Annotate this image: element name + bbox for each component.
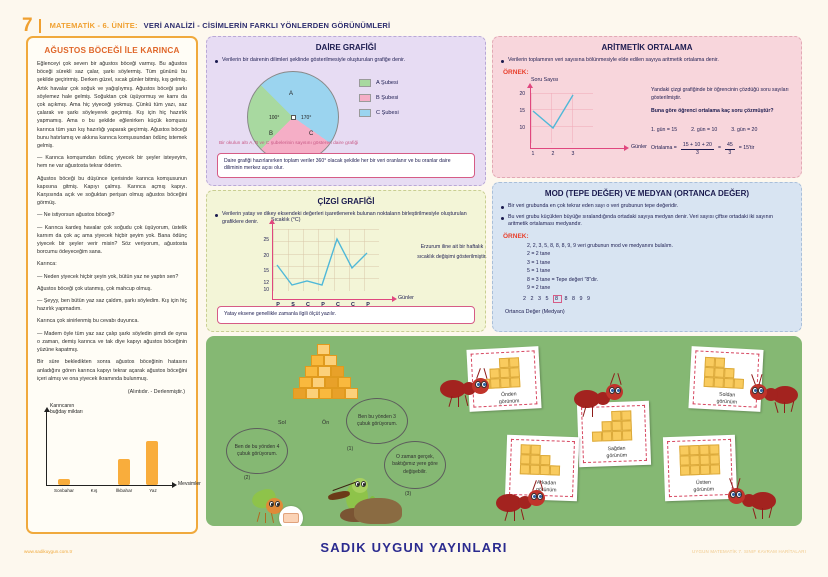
story-panel: AĞUSTOS BÖCEĞİ İLE KARINCA Eğlenceyi çok… [26, 36, 198, 534]
bullet-item: Bu veri grubu küçükten büyüğe sıralandığ… [493, 214, 801, 229]
mode-count: 8 = 3 tane = Tepe değeri "8"dir. [527, 276, 801, 284]
speech-bubble-number-2: (2) [244, 475, 250, 481]
bullet-dot-icon [215, 60, 218, 63]
x-tick-label: 1 [529, 151, 537, 157]
description-line: sıcaklık değişimi gösterilmiştir. [412, 253, 492, 263]
card-label: Sağdan görünüm [592, 445, 640, 460]
pie-slice-label-b: B [269, 131, 273, 137]
unit-number: 7 [22, 16, 33, 35]
section-title: ÇİZGİ GRAFİĞİ [207, 197, 485, 206]
median-highlight: 8 [553, 295, 562, 303]
story-paragraph: Ağustos böceği bu düşünce içerisinde kar… [37, 175, 187, 208]
legend-item: B Şubesi [359, 94, 399, 102]
bullet-item: Verilerin toplamının veri sayısına bölün… [493, 57, 801, 65]
equals-sign: = [718, 145, 721, 153]
story-paragraph: Eğlenceyi çok seven bir ağustos böceği v… [37, 60, 187, 150]
x-tick-label: 2 [549, 151, 557, 157]
bullet-dot-icon [501, 217, 504, 220]
line-chart-description: Erzurum iline ait bir haftalık sıcaklık … [412, 243, 492, 263]
pie-center-marker-icon [291, 115, 296, 120]
top-view-grid [679, 444, 722, 475]
category-label: Kış [78, 488, 110, 493]
line-note-box: Yatay eksene genellikle zamanla ilgili ö… [217, 306, 475, 324]
section-title: ARİTMETİK ORTALAMA [493, 43, 801, 52]
chart-x-axis-label: Mevsimler [178, 481, 201, 487]
legend-label: C Şubesi [376, 110, 399, 116]
illustration-panel: Sol Ön Ben bu yönden 3 çubuk görüyorum. … [206, 336, 802, 526]
bar-sonbahar [58, 479, 70, 485]
speech-text: Ben bu yönden 3 çubuk görüyorum. [352, 414, 402, 429]
bullet-item: Verilerin bir dairenin dilimleri şeklind… [207, 57, 485, 65]
story-body: Eğlenceyi çok seven bir ağustos böceği v… [28, 60, 196, 395]
median-label: Ortanca Değer (Medyan) [493, 309, 801, 315]
legend-swatch-icon [359, 109, 371, 117]
mode-count: 2 = 2 tane [527, 250, 801, 258]
arithmetic-mean-section: ARİTMETİK ORTALAMA Verilerin toplamının … [492, 36, 802, 178]
chart-y-axis-label: Sıcaklık (°C) [271, 217, 301, 223]
speech-bubble-number-3: (3) [405, 491, 411, 497]
mean-day-values: 1. gün = 15 2. gün = 10 3. gün = 20 [651, 127, 797, 135]
legend-label: B Şubesi [376, 95, 398, 101]
ant-character-back [496, 486, 552, 520]
bullet-text: Verilerin toplamının veri sayısına bölün… [508, 57, 719, 65]
legend-label: A Şubesi [376, 80, 398, 86]
mode-count: 5 = 1 tane [527, 267, 801, 275]
y-axis-arrow-icon [269, 219, 275, 224]
bullet-item: Bir veri grubunda en çok tekrar eden say… [493, 203, 801, 211]
header-subject: MATEMATİK - 6. ÜNİTE: [50, 21, 138, 30]
direction-label-front: Ön [322, 420, 329, 426]
pie-chart-caption: Bir okulun altı A, B ve C şubelerinin sa… [219, 141, 358, 146]
x-tick-label: 3 [569, 151, 577, 157]
mean-question: Buna göre öğrenci ortalama kaç soru çözm… [651, 108, 797, 116]
bullet-dot-icon [501, 206, 504, 209]
ant-character-right [574, 380, 630, 414]
pie-legend: A Şubesi B Şubesi C Şubesi [359, 79, 399, 124]
left-view-grid [704, 357, 752, 389]
ant-character-front [440, 372, 496, 406]
y-axis-arrow-icon [527, 83, 533, 88]
card-label: Üstten görünüm [678, 479, 728, 494]
mode-count: 9 = 2 tane [527, 284, 801, 292]
line-series-path [255, 227, 395, 307]
bullet-text: Verilerin yatay ve dikey eksendeki değer… [222, 211, 475, 226]
fraction-two: 45 3 [725, 142, 735, 156]
category-label: İlkbahar [108, 488, 140, 493]
ant-character-top [724, 484, 780, 518]
section-title: DAİRE GRAFİĞİ [207, 43, 485, 52]
speech-bubble-number-1: (1) [347, 446, 353, 452]
chart-x-axis-label: Günler [398, 295, 414, 301]
speech-text: Ben de bu yönden 4 çubuk görüyorum. [232, 444, 282, 459]
page-header: 7 MATEMATİK - 6. ÜNİTE: VERİ ANALİZİ - C… [22, 16, 390, 35]
pie-slice-label-c: C [309, 131, 313, 137]
y-axis-arrow-icon [44, 407, 50, 412]
description-line: Erzurum iline ait bir haftalık [412, 243, 492, 253]
back-view-grid [520, 444, 567, 476]
chart-y-axis-label: Karıncanın buğday miktarı [50, 403, 83, 416]
line-series-path [511, 89, 631, 159]
example-label: ÖRNEK: [493, 233, 801, 240]
page-title: VERİ ANALİZİ - CİSİMLERİN FARKLI YÖNLERD… [144, 21, 391, 30]
mean-description: Yandaki çizgi grafiğinde bir öğrencinin … [651, 87, 797, 103]
pie-chart-section: DAİRE GRAFİĞİ Verilerin bir dairenin dil… [206, 36, 486, 186]
bullet-text: Verilerin bir dairenin dilimleri şeklind… [222, 57, 405, 65]
question-count-line-chart: Soru Sayısı 10 15 20 1 2 3 Günler [511, 89, 641, 159]
story-paragraph: Bir süre bekledikten sonra ağustos böceğ… [37, 358, 187, 383]
grass-mound [354, 498, 402, 524]
card-label: Soldan görünüm [703, 391, 752, 406]
pie-note-box: Daire grafiği hazırlanırken toplam veril… [217, 153, 475, 178]
fraction-one: 15 + 10 + 20 3 [681, 142, 714, 156]
y-axis-line [46, 411, 47, 485]
example-label: ÖRNEK: [493, 69, 801, 76]
bullet-dot-icon [501, 60, 504, 63]
formula-result: = 15'tir [739, 145, 755, 153]
mode-median-section: MOD (TEPE DEĞER) VE MEDYAN (ORTANCA DEĞE… [492, 182, 802, 332]
speech-bubble-2: Ben de bu yönden 4 çubuk görüyorum. [226, 428, 288, 474]
pie-angle-label-c: 170° [301, 115, 311, 121]
category-label: Sonbahar [48, 488, 80, 493]
chart-x-axis-label: Günler [631, 144, 647, 150]
story-paragraph: Karınca: [37, 260, 187, 268]
formula-label: Ortalama = [651, 145, 677, 153]
sorted-sequence: 2 2 3 5 8 8 8 9 9 [493, 295, 801, 303]
story-paragraph: — Neden yiyecek hiçbir şeyin yok, bütün … [37, 273, 187, 281]
day-value: 2. gün = 10 [691, 127, 717, 135]
temperature-line-chart: Sıcaklık (°C) 10 12 15 20 25 P S Ç P C C… [255, 227, 390, 305]
story-paragraph: Ağustos böceği çok utanmış, çok mahcup o… [37, 285, 187, 293]
mode-example-body: 2, 2, 3, 5, 8, 8, 8, 9, 9 veri grubunun … [493, 242, 801, 293]
legend-swatch-icon [359, 79, 371, 87]
mean-explanation: Yandaki çizgi grafiğinde bir öğrencinin … [651, 87, 797, 156]
day-value: 1. gün = 15 [651, 127, 677, 135]
pie-slice-label-a: A [289, 91, 293, 97]
chart-y-axis-label: Soru Sayısı [531, 77, 558, 83]
right-view-grid [591, 410, 638, 442]
direction-label-left: Sol [278, 420, 286, 426]
legend-swatch-icon [359, 94, 371, 102]
bullet-dot-icon [215, 214, 218, 217]
mean-formula: Ortalama = 15 + 10 + 20 3 = 45 3 = 15'ti… [651, 142, 797, 156]
story-paragraph: — Madem öyle tüm yaz saz çalıp şarkı söy… [37, 330, 187, 355]
mode-count: 3 = 1 tane [527, 259, 801, 267]
story-paragraph: — Karınca kardeş havalar çok soğudu çok … [37, 224, 187, 257]
speech-bubble-1: Ben bu yönden 3 çubuk görüyorum. [346, 398, 408, 444]
x-axis-arrow-icon [172, 482, 177, 488]
section-title: MOD (TEPE DEĞER) VE MEDYAN (ORTANCA DEĞE… [493, 189, 801, 198]
category-label: Yaz [137, 488, 169, 493]
legend-item: C Şubesi [359, 109, 399, 117]
bullet-item: Verilerin yatay ve dikey eksendeki değer… [207, 211, 485, 226]
story-paragraph: — Şeyyy, ben bütün yaz saz çaldım, şarkı… [37, 297, 187, 313]
story-title: AĞUSTOS BÖCEĞİ İLE KARINCA [34, 46, 190, 55]
bullet-text: Bir veri grubunda en çok tekrar eden say… [508, 203, 678, 211]
sequence-right: 8 8 9 9 [565, 296, 592, 302]
story-attribution: (Alıntıdır. - Derlenmiştir.) [37, 389, 185, 395]
speech-bubble-3: O zaman gerçek, baktığımız yere göre değ… [384, 441, 446, 489]
legend-item: A Şubesi [359, 79, 399, 87]
line-chart-section: ÇİZGİ GRAFİĞİ Verilerin yatay ve dikey e… [206, 190, 486, 332]
speech-text: O zaman gerçek, baktığımız yere göre değ… [390, 454, 440, 476]
bullet-text: Bu veri grubu küçükten büyüğe sıralandığ… [508, 214, 791, 229]
ant-character-left [746, 378, 802, 412]
story-paragraph: Karınca çok sinirlenmiş bu cevabı duyunc… [37, 317, 187, 325]
x-axis-line [46, 485, 174, 486]
pie-angle-label-b: 100° [269, 115, 279, 121]
sequence-left: 2 2 3 5 [523, 296, 550, 302]
food-plate [279, 506, 303, 526]
header-divider [39, 19, 41, 33]
day-value: 3. gün = 20 [731, 127, 757, 135]
pie-chart: A B C 100° 170° [247, 71, 339, 163]
story-paragraph: — Ne istiyorsun ağustos böceği? [37, 211, 187, 219]
bar-ilkbahar [118, 459, 130, 485]
ant-wheat-bar-chart: Karıncanın buğday miktarı Mevsimler Sonb… [36, 403, 192, 499]
mode-problem: 2, 2, 3, 5, 8, 8, 8, 9, 9 veri grubunun … [527, 242, 801, 250]
bar-yaz [146, 441, 158, 485]
footer-series-info: UYGUN MATEMATİK 7. SINIF KAVRAM HARİTALA… [692, 549, 806, 554]
story-paragraph: — Karınca komşumdan ödünç yiyecek bir şe… [37, 154, 187, 170]
